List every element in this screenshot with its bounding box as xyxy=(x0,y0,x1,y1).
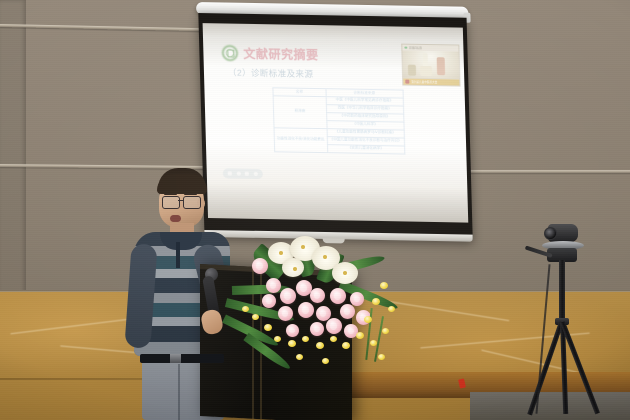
belt-buckle xyxy=(170,354,181,363)
pink-rose xyxy=(280,288,296,304)
pip-top-caption: 直播间标题 xyxy=(409,46,422,50)
picture-in-picture-video-feed: 直播间标题 第九届儿童中医药大会 xyxy=(401,44,460,87)
table-cell-category: 积滞病 xyxy=(273,96,327,129)
tripod-leg xyxy=(527,321,564,415)
pink-rose xyxy=(278,306,293,321)
yellow-orchid xyxy=(274,336,281,342)
pink-rose xyxy=(330,288,346,304)
yellow-orchid xyxy=(330,336,337,342)
video-camera-on-tripod xyxy=(522,224,618,420)
slide-subtitle: （2）诊断标准及来源 xyxy=(228,66,314,79)
yellow-orchid xyxy=(316,342,324,349)
pink-rose xyxy=(326,318,342,334)
lens-right xyxy=(183,196,201,209)
pip-bottom-banner: 第九届儿童中医药大会 xyxy=(403,79,460,86)
white-lily xyxy=(332,262,358,284)
slide-header: 文献研究摘要 xyxy=(221,44,319,63)
yellow-orchid xyxy=(364,316,372,323)
academy-emblem-icon xyxy=(221,44,238,61)
floral-arrangement xyxy=(222,236,412,396)
pink-rose xyxy=(262,294,276,308)
tripod-center-post xyxy=(559,260,565,322)
yellow-orchid xyxy=(388,306,395,312)
more-options-icon[interactable] xyxy=(254,172,258,176)
pip-figure-table xyxy=(420,66,432,76)
lens-left xyxy=(162,196,180,209)
pink-rose xyxy=(310,288,325,303)
hair-front xyxy=(157,174,207,194)
yellow-orchid xyxy=(356,332,364,339)
yellow-orchid xyxy=(242,306,249,312)
pip-figure-right xyxy=(437,57,446,75)
pip-bottom-caption: 第九届儿童中医药大会 xyxy=(411,80,437,84)
yellow-orchid xyxy=(302,336,309,342)
pink-rose xyxy=(286,324,299,337)
eyebrow-left xyxy=(164,193,177,195)
slide-data-table: 名称 诊断标准来源 积滞病 中医《中医儿科学常见病诊疗指南》 西医《中华儿科学临… xyxy=(272,87,405,154)
live-indicator-icon xyxy=(404,46,407,49)
slide-title: 文献研究摘要 xyxy=(243,45,319,63)
pip-video-stage xyxy=(402,51,459,79)
table-cell-source: 《实用儿童消化病学》 xyxy=(327,144,404,153)
trouser-seam xyxy=(178,364,180,420)
table-cell-category: 功能性消化不良/消化功能紊乱 xyxy=(274,128,327,153)
mouth-speaking xyxy=(170,215,181,222)
yellow-orchid xyxy=(342,342,350,349)
hanging-black-cable xyxy=(535,264,550,414)
presentation-room-photo: 文献研究摘要 （2）诊断标准及来源 名称 诊断标准来源 积滞病 中医《中医儿科学… xyxy=(0,0,630,420)
black-belt xyxy=(140,354,224,363)
yellow-orchid xyxy=(378,354,385,360)
wall-trim-line-right xyxy=(455,170,630,173)
yellow-orchid xyxy=(382,328,389,334)
pip-figure-left xyxy=(408,65,416,76)
pink-rose xyxy=(310,322,324,336)
pink-rose xyxy=(298,302,314,318)
white-lily xyxy=(282,258,304,277)
yellow-orchid xyxy=(296,354,303,360)
yellow-orchid xyxy=(372,298,380,305)
eyebrow-right xyxy=(184,193,197,195)
shirt-placket xyxy=(176,242,180,268)
camera-lens-icon xyxy=(544,227,557,240)
wall-left-column xyxy=(0,0,26,300)
pink-rose xyxy=(266,278,281,293)
pink-rose xyxy=(252,258,268,274)
yellow-orchid xyxy=(252,314,259,320)
yellow-orchid xyxy=(264,324,272,331)
pink-rose xyxy=(340,304,355,319)
yellow-orchid xyxy=(370,340,377,346)
yellow-orchid xyxy=(288,340,296,347)
event-badge-icon xyxy=(405,80,409,84)
yellow-orchid xyxy=(380,282,388,289)
marble-vein xyxy=(10,319,129,335)
pink-rose xyxy=(350,292,364,306)
yellow-orchid xyxy=(322,358,329,364)
eyeglasses-icon xyxy=(162,196,202,207)
